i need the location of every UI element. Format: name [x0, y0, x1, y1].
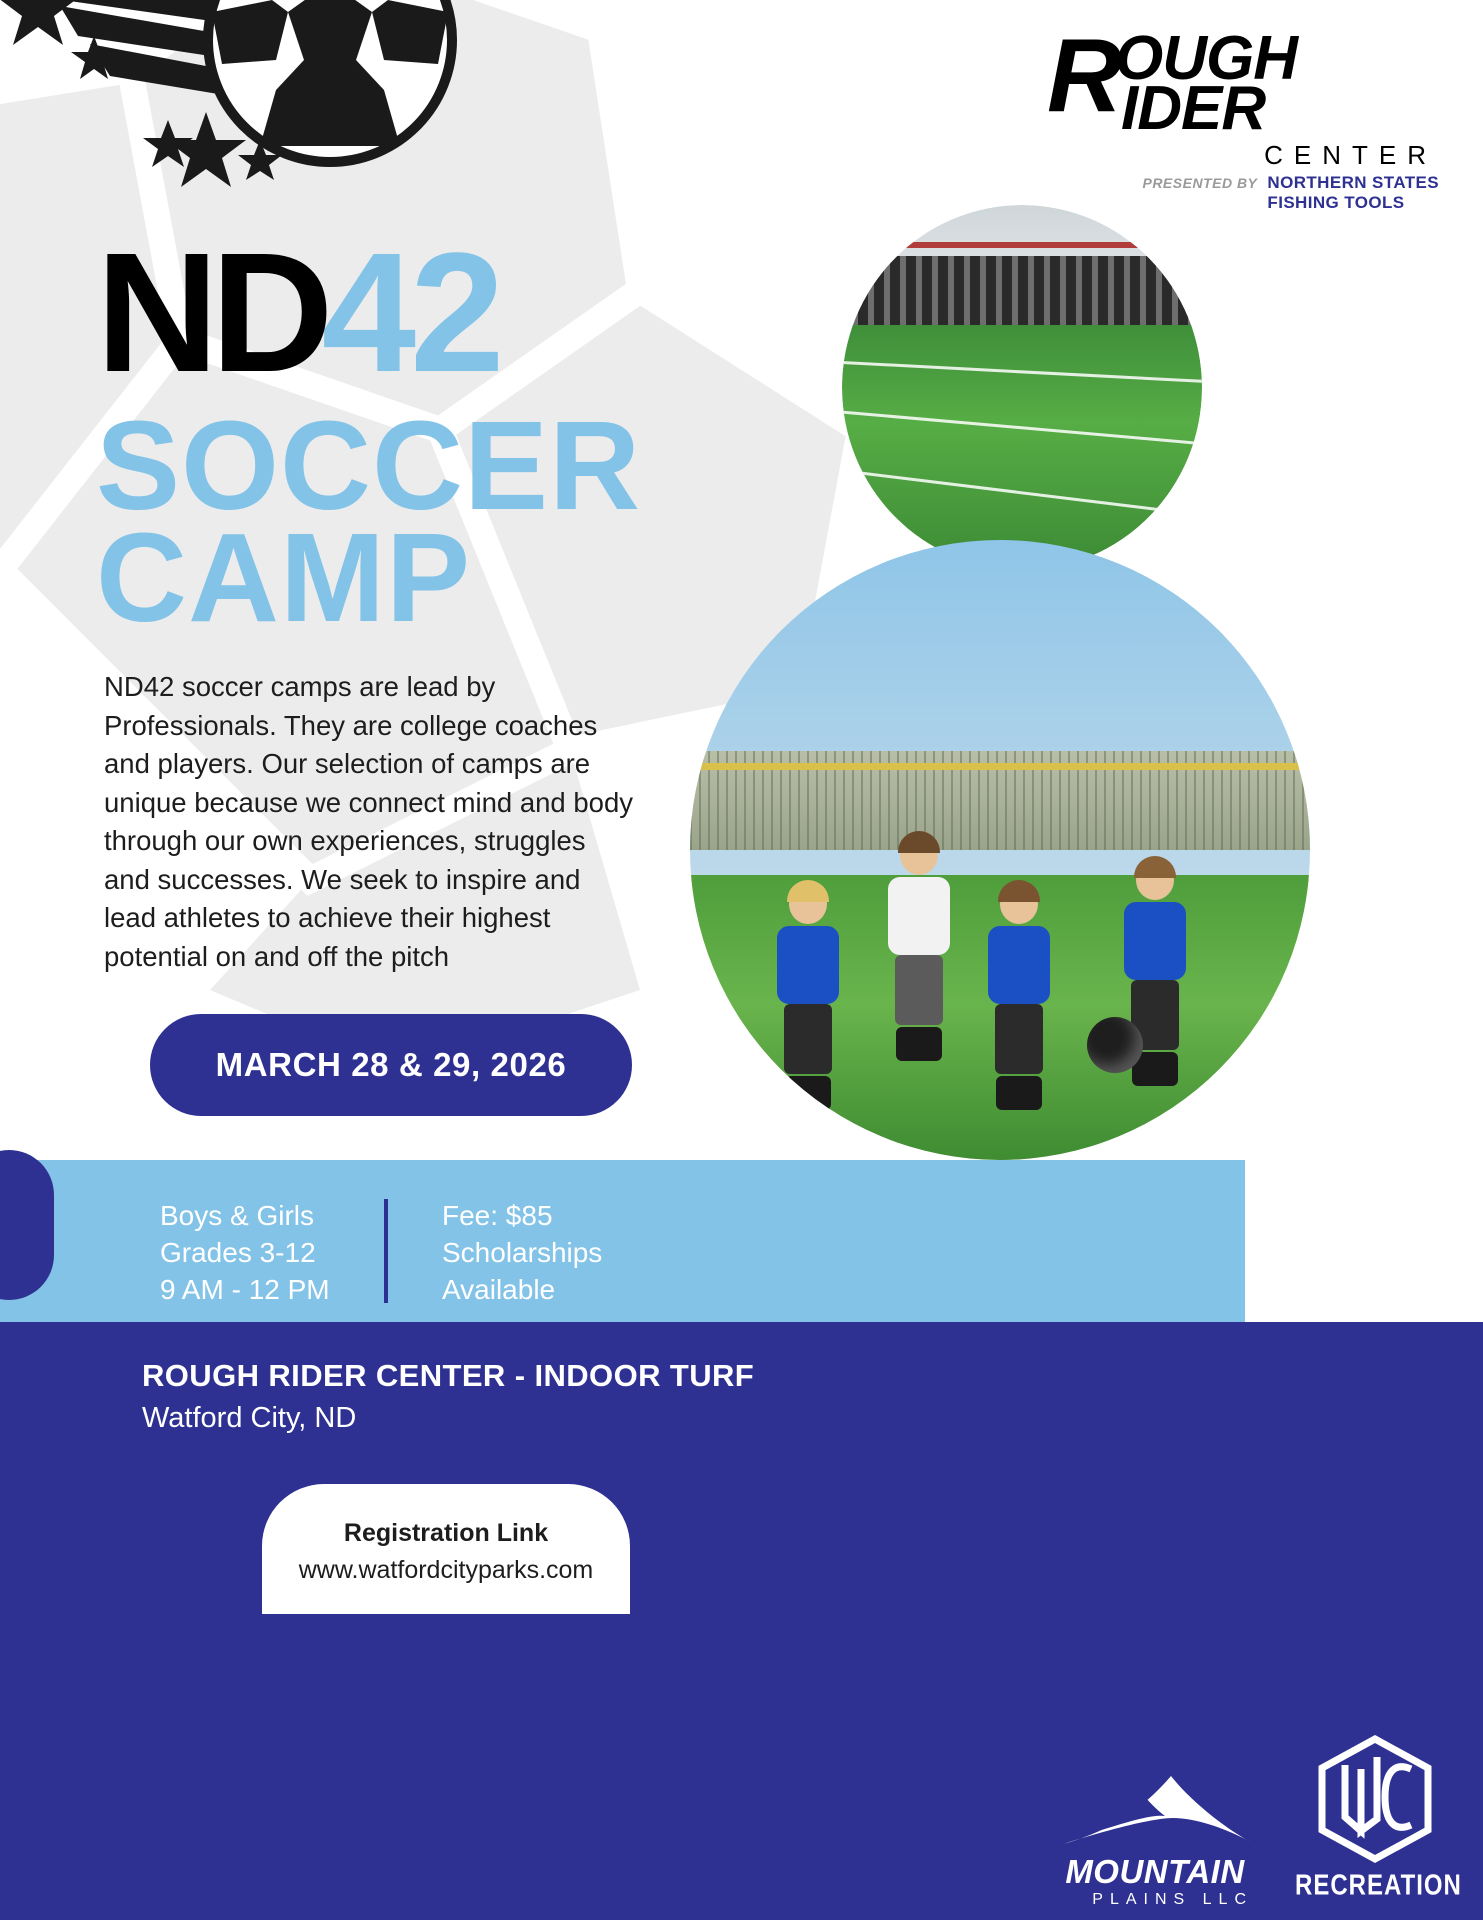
mountain-plains-sub: PLAINS LLC [1055, 1891, 1255, 1909]
nd42-dark-part: ND [96, 238, 326, 388]
venue-name: ROUGH RIDER CENTER - INDOOR TURF [142, 1358, 754, 1394]
page-title-line-1: SOCCER [96, 410, 641, 522]
wc-hexagon-icon [1315, 1735, 1435, 1865]
registration-card[interactable]: Registration Link www.watfordcityparks.c… [262, 1484, 630, 1614]
player-figure [988, 884, 1050, 1110]
player-figure [777, 884, 839, 1110]
logo-center: CENTER [1264, 140, 1437, 171]
indoor-turf-photo [842, 205, 1202, 570]
info-divider [384, 1199, 388, 1303]
registration-url[interactable]: www.watfordcityparks.com [299, 1556, 594, 1585]
venue-city: Watford City, ND [142, 1402, 356, 1435]
info-available: Available [442, 1271, 602, 1308]
logo-big-r: R [1047, 26, 1118, 126]
mountain-plains-logo: MOUNTAIN PLAINS LLC [1055, 1770, 1255, 1909]
logo-rider: IDER [1121, 78, 1265, 140]
date-badge-label: MARCH 28 & 29, 2026 [216, 1046, 567, 1084]
date-badge: MARCH 28 & 29, 2026 [150, 1014, 632, 1116]
camp-description: ND42 soccer camps are lead by Profession… [104, 668, 634, 976]
kids-playing-soccer-photo [690, 540, 1310, 1160]
info-scholarships: Scholarships [442, 1234, 602, 1271]
wc-recreation-logo: RECREATION [1295, 1735, 1455, 1900]
presented-by-label: PRESENTED BY [1142, 175, 1257, 191]
player-figure [888, 835, 950, 1061]
soccer-ball-in-photo [1087, 1017, 1143, 1073]
info-column-right: Fee: $85 Scholarships Available [442, 1197, 602, 1308]
mountain-plains-name: MOUNTAIN [1055, 1853, 1255, 1891]
rough-rider-center-logo: R OUGH IDER CENTER PRESENTED BY NORTHERN… [1041, 22, 1441, 142]
info-time: 9 AM - 12 PM [160, 1271, 384, 1308]
info-column-left: Boys & Girls Grades 3-12 9 AM - 12 PM [160, 1197, 384, 1308]
sponsor-line-1: NORTHERN STATES [1267, 173, 1439, 192]
nd42-accent-part: 42 [322, 238, 499, 388]
info-fee: Fee: $85 [442, 1197, 602, 1234]
sponsor-line-2: FISHING TOOLS [1267, 193, 1404, 212]
flyer-root: R OUGH IDER CENTER PRESENTED BY NORTHERN… [0, 0, 1483, 1920]
wc-recreation-label: RECREATION [1295, 1869, 1455, 1902]
info-boys-girls: Boys & Girls [160, 1197, 384, 1234]
info-grades: Grades 3-12 [160, 1234, 384, 1271]
page-title-line-2: CAMP [96, 522, 471, 634]
info-band-tab-accent [0, 1150, 54, 1300]
registration-title: Registration Link [344, 1519, 548, 1548]
nd42-wordmark: ND 42 [96, 238, 499, 388]
mountain-peaks-icon [1055, 1770, 1255, 1848]
logo-presented-by-block: PRESENTED BY NORTHERN STATES FISHING TOO… [1142, 174, 1439, 213]
camp-info-grid: Boys & Girls Grades 3-12 9 AM - 12 PM Fe… [160, 1197, 602, 1308]
